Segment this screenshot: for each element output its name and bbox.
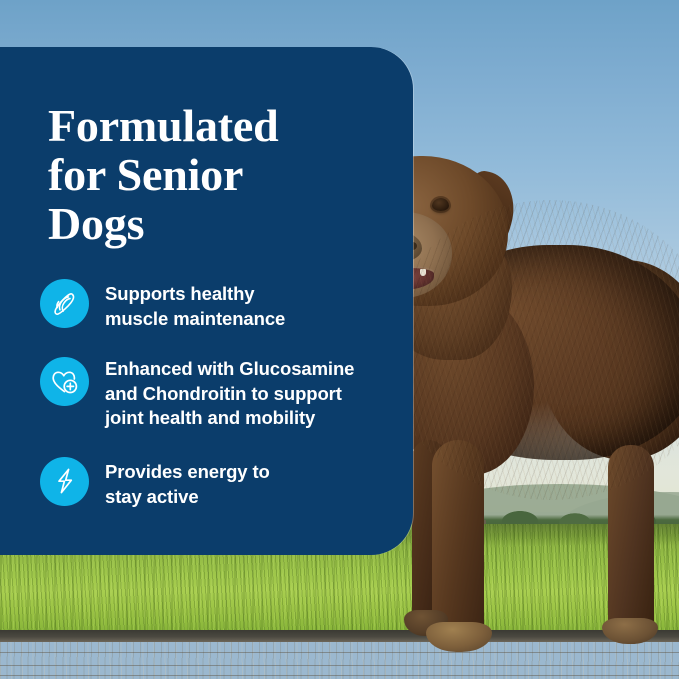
feature-text-muscle: Supports healthy muscle maintenance [105, 279, 285, 331]
muscle-icon [40, 279, 89, 328]
headline-line-1: Formulated [48, 101, 388, 150]
page-title: Formulated for Senior Dogs [48, 101, 388, 249]
dog-tooth [420, 269, 426, 276]
feature-line: stay active [105, 485, 270, 510]
feature-item-muscle: Supports healthy muscle maintenance [40, 279, 400, 331]
plank-line [0, 675, 679, 676]
dog-paw [602, 618, 658, 644]
lightning-bolt-icon [40, 457, 89, 506]
headline-line-2: for Senior [48, 150, 388, 199]
feature-line: Enhanced with Glucosamine [105, 357, 354, 382]
feature-line: and Chondroitin to support [105, 382, 354, 407]
dog-eye-right [432, 198, 449, 211]
feature-line: muscle maintenance [105, 307, 285, 332]
headline-line-3: Dogs [48, 199, 388, 248]
feature-item-energy: Provides energy to stay active [40, 457, 400, 509]
feature-text-energy: Provides energy to stay active [105, 457, 270, 509]
info-panel: Formulated for Senior Dogs Supports heal… [0, 47, 413, 555]
feature-line: Supports healthy [105, 282, 285, 307]
feature-line: joint health and mobility [105, 406, 354, 431]
feature-text-joint-health: Enhanced with Glucosamine and Chondroiti… [105, 357, 354, 431]
feature-line: Provides energy to [105, 460, 270, 485]
feature-list: Supports healthy muscle maintenance Enha… [40, 279, 400, 535]
dog-paw [426, 622, 492, 652]
plank-line [0, 665, 679, 666]
feature-item-joint-health: Enhanced with Glucosamine and Chondroiti… [40, 357, 400, 431]
dog-back-leg [608, 445, 654, 635]
heart-plus-icon [40, 357, 89, 406]
